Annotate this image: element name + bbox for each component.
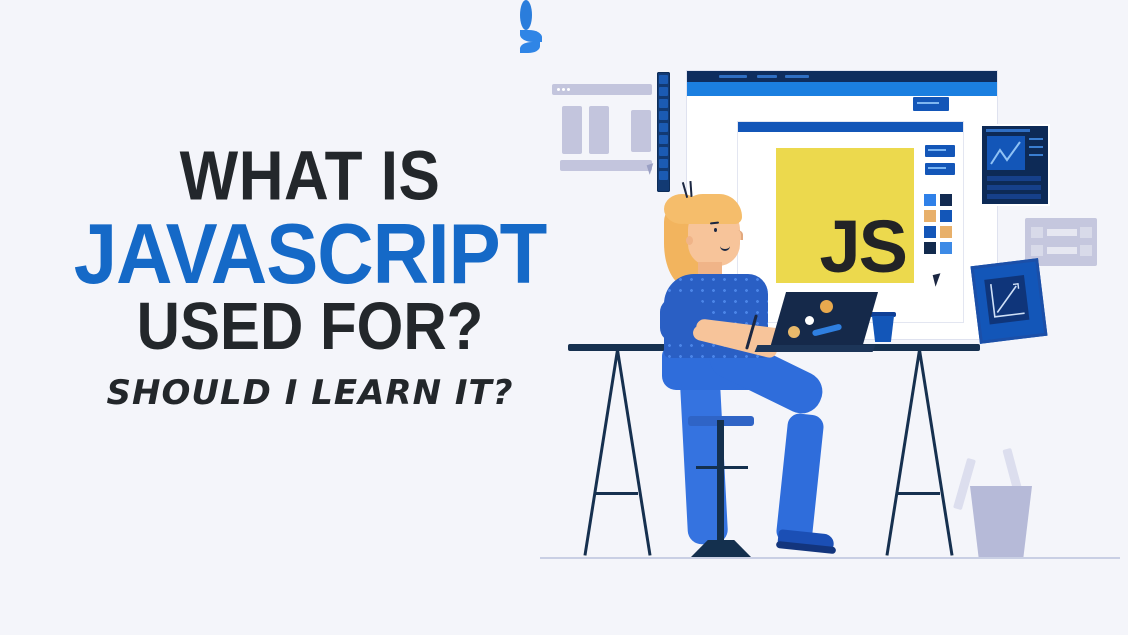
color-swatch <box>940 242 952 254</box>
browser-toolbar <box>687 82 997 96</box>
plant-leaf <box>520 42 540 53</box>
menu-item-placeholder <box>757 75 777 78</box>
list-bar <box>1047 247 1077 254</box>
poster-canvas: WHAT IS JAVASCRIPT USED FOR? SHOULD I LE… <box>0 0 1128 635</box>
color-swatch <box>924 210 936 222</box>
illustration: JS <box>520 0 1128 635</box>
laptop-sticker <box>820 300 833 313</box>
tilted-chart-plot <box>984 275 1029 325</box>
list-thumb <box>1080 245 1092 256</box>
waste-basket <box>970 486 1032 558</box>
mini-browser-mockup <box>552 84 652 176</box>
analytics-chart <box>987 136 1025 170</box>
analytics-card <box>980 124 1050 206</box>
analytics-card-title <box>986 129 1030 132</box>
list-thumb <box>1080 227 1092 238</box>
window-dots-icon <box>557 88 575 91</box>
person-illustration <box>640 178 870 560</box>
panel-button <box>924 144 956 158</box>
mini-browser-column <box>631 110 651 152</box>
laptop-sticker <box>788 326 800 338</box>
color-swatch <box>940 210 952 222</box>
hair-pin-icon <box>689 181 692 197</box>
person-hair-top <box>680 194 742 224</box>
cursor-arrow-icon <box>647 163 657 175</box>
plant-leaf <box>520 0 532 30</box>
stool-footrest <box>696 466 748 469</box>
browser-titlebar <box>687 71 997 82</box>
list-thumb <box>1031 227 1043 238</box>
panel-button <box>924 162 956 176</box>
plant-leaf <box>520 30 542 42</box>
color-swatch <box>940 226 952 238</box>
desk-leg <box>885 350 921 556</box>
menu-item-placeholder <box>785 75 809 78</box>
mini-browser-column <box>562 106 582 154</box>
desk-leg-crossbar <box>594 492 638 495</box>
floating-tab-chip <box>912 96 950 112</box>
laptop-base <box>755 345 876 352</box>
list-thumb <box>1031 245 1043 256</box>
color-swatch-grid <box>924 194 958 254</box>
design-window-titlebar <box>738 122 963 132</box>
laptop-sticker <box>805 316 814 325</box>
person-shin <box>775 412 824 545</box>
line-chart-icon <box>987 136 1025 170</box>
floor-line <box>540 557 1120 559</box>
person-nose <box>732 230 743 240</box>
desk-leg <box>918 350 954 556</box>
mini-browser-footer-bar <box>560 160 652 171</box>
color-swatch <box>924 242 936 254</box>
color-swatch <box>924 194 936 206</box>
color-swatch <box>940 194 952 206</box>
desk-leg-crossbar <box>896 492 940 495</box>
person-eye <box>714 228 717 232</box>
plant-pot <box>872 316 894 342</box>
tilted-chart-card <box>971 258 1048 344</box>
desk-leg <box>583 350 619 556</box>
stool-post <box>717 420 724 555</box>
analytics-rows <box>987 176 1041 203</box>
tool-panel <box>924 144 958 264</box>
analytics-legend <box>1029 138 1043 162</box>
person-ear <box>686 236 693 245</box>
menu-item-placeholder <box>719 75 747 78</box>
color-swatch <box>924 226 936 238</box>
mini-browser-titlebar <box>552 84 652 95</box>
list-bar <box>1047 229 1077 236</box>
mini-browser-column <box>589 106 609 154</box>
cursor-arrow-icon <box>933 273 944 287</box>
axis-chart-icon <box>984 275 1029 325</box>
vertical-toolbar-strip <box>657 72 670 192</box>
